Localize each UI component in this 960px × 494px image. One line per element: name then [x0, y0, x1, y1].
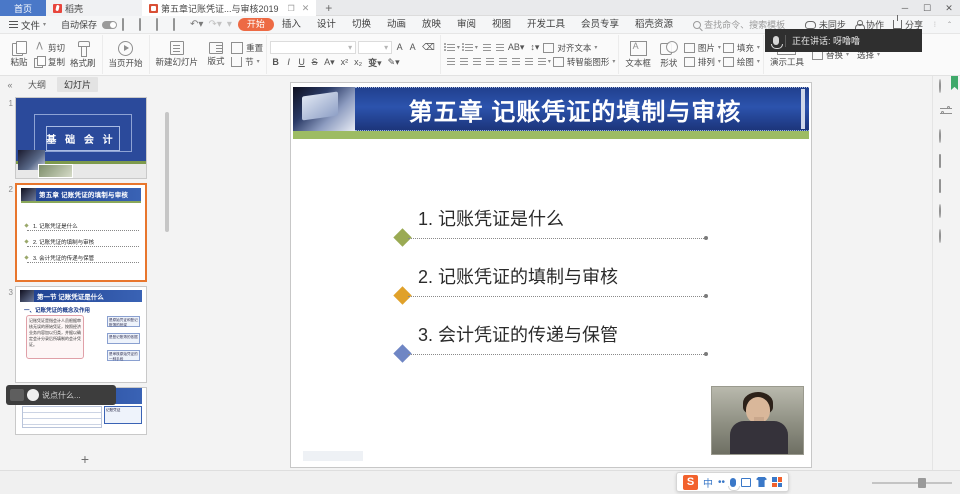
- chevron-down-icon: ▾: [718, 58, 721, 65]
- title-decor-image: [293, 87, 355, 131]
- reset-label: 重置: [246, 42, 263, 54]
- comment-bubble[interactable]: 说点什么...: [6, 385, 116, 405]
- layout-icon: [209, 42, 223, 54]
- decrease-indent-icon[interactable]: [480, 43, 491, 53]
- window-controls: ─ ☐ ✕: [894, 0, 960, 15]
- minimize-button[interactable]: ─: [894, 0, 916, 16]
- align-text-button[interactable]: 对齐文本 ▾: [543, 42, 597, 54]
- end-dot-icon: [704, 294, 708, 298]
- thumb2-bullet-1: 1. 记账凭证是什么: [33, 222, 133, 230]
- fill-label: 填充: [737, 42, 754, 54]
- divider: [785, 35, 786, 47]
- reset-button[interactable]: 重置: [231, 42, 263, 54]
- thumb4-note: 记账凭证: [104, 406, 142, 424]
- slide-number: 3: [2, 286, 13, 297]
- slide-canvas[interactable]: 第五章 记账凭证的填制与审核 1. 记账凭证是什么: [170, 76, 932, 470]
- share-icon: [893, 20, 902, 29]
- target-icon[interactable]: [939, 205, 954, 220]
- thumb3-header-image: [20, 290, 34, 302]
- copy-label: 复制: [48, 56, 65, 68]
- format-painter-button[interactable]: 格式刷: [67, 35, 99, 74]
- title-decor-tick: [801, 89, 805, 129]
- shape-button[interactable]: 形状: [656, 35, 682, 74]
- thumb3-subtitle: 一、记账凭证的概念及作用: [24, 306, 90, 314]
- dotted-rule: [408, 238, 704, 239]
- bullet-row[interactable]: 2. 记账凭证的填制与审核: [396, 261, 706, 319]
- new-tab-button[interactable]: +: [316, 0, 341, 15]
- help-icon[interactable]: [939, 230, 954, 245]
- paste-label: 粘贴: [10, 56, 27, 68]
- align-text-icon: [543, 43, 554, 53]
- slide-thumbnail-3[interactable]: 第一节 记账凭证是什么 一、记账凭证的概念及作用 记账凭证是指会计人员根据审核无…: [15, 286, 147, 383]
- more-options-icon[interactable]: ⋮: [932, 21, 938, 28]
- tab-daoke-resource[interactable]: 稻壳资源: [627, 16, 681, 34]
- paste-icon: [12, 41, 26, 55]
- tab-slides[interactable]: 幻灯片: [57, 77, 98, 92]
- autosave-toggle[interactable]: [102, 21, 117, 29]
- clear-format-button[interactable]: ⌫: [420, 42, 437, 53]
- shape-icon: [660, 41, 677, 56]
- slide-footer-placeholder: [303, 451, 363, 461]
- ime-mode-chinese[interactable]: 中: [703, 475, 713, 490]
- thumb3-box-1: 是原始凭证和登记账簿的桥梁: [107, 316, 140, 327]
- chevron-down-icon: ▾: [457, 44, 460, 51]
- presenter-body: [730, 421, 788, 455]
- cloud-sync-icon: [805, 21, 816, 29]
- tab-restore-icon[interactable]: ❐: [288, 4, 295, 13]
- slide-thumbnail-2[interactable]: 第五章 记账凭证的填制与审核 1. 记账凭证是什么 2. 记账凭证的填制与审核 …: [15, 183, 147, 282]
- panel-scrollbar[interactable]: [165, 112, 169, 232]
- cut-button[interactable]: 剪切: [34, 42, 65, 54]
- thumb4-table: [22, 406, 102, 428]
- sogou-logo-icon[interactable]: S: [683, 475, 698, 490]
- picture-button[interactable]: 图片 ▾: [684, 42, 721, 54]
- smartart-icon: [553, 57, 564, 67]
- print-preview-icon[interactable]: [173, 19, 185, 31]
- convert-to-smartart-button[interactable]: 转智能图形 ▾: [553, 56, 616, 68]
- chevron-down-icon: ▾: [718, 44, 721, 51]
- thumb2-bullet-2: 2. 记账凭证的填制与审核: [33, 238, 133, 246]
- slide-green-divider: [293, 131, 809, 139]
- zoom-slider[interactable]: [872, 482, 952, 484]
- cut-label: 剪切: [48, 42, 65, 54]
- underline-button[interactable]: U: [296, 57, 307, 67]
- ribbon-tabs: 开始 插入 设计 切换 动画 放映 审阅 视图 开发工具 会员专享 稻壳资源: [238, 16, 681, 34]
- customize-qat-icon[interactable]: ▾: [227, 19, 232, 30]
- ribbon-group-slides: 新建幻灯片 版式 重置 节 ▾: [150, 35, 268, 74]
- collapse-ribbon-icon[interactable]: ⌃: [947, 21, 952, 28]
- print-icon[interactable]: [156, 19, 168, 31]
- tab-outline[interactable]: 大纲: [21, 77, 53, 92]
- draw-icon: [723, 57, 734, 67]
- tab-transition[interactable]: 切换: [344, 16, 379, 34]
- draw-label: 绘图: [737, 56, 754, 68]
- chevron-down-icon: ▾: [877, 51, 880, 58]
- convert-to-smartart-label: 转智能图形: [567, 56, 610, 68]
- subscript-button[interactable]: x₂: [352, 57, 364, 67]
- chevron-down-icon: ▾: [612, 58, 615, 65]
- align-right-icon[interactable]: [470, 57, 481, 67]
- slide-number: 1: [2, 97, 13, 108]
- add-slide-button[interactable]: +: [0, 448, 170, 470]
- new-slide-icon: [170, 41, 184, 55]
- paste-button[interactable]: 粘贴: [6, 35, 32, 74]
- thumb2-bullet-3: 3. 会计凭证的传递与保管: [33, 254, 133, 262]
- play-from-here-button[interactable]: 当页开始: [106, 35, 146, 74]
- bullet-label: 3. 会计凭证的传递与保管: [418, 321, 618, 347]
- text-direction-icon[interactable]: AB▾: [506, 42, 527, 53]
- superscript-button[interactable]: x²: [339, 57, 351, 67]
- tab-animation[interactable]: 动画: [379, 16, 414, 34]
- undo-icon[interactable]: ↶▾: [190, 19, 203, 30]
- list-item[interactable]: 4 记账凭证 说点什么...: [0, 385, 170, 437]
- brush-style-icon[interactable]: [939, 80, 954, 95]
- tab-start[interactable]: 开始: [238, 18, 274, 31]
- work-area: « 大纲 幻灯片 1 基 础 会 计: [0, 76, 960, 470]
- speaking-toast: 正在讲话: 呀噜噜: [765, 29, 922, 52]
- play-from-here-icon: [118, 41, 133, 56]
- avatar: [10, 389, 24, 401]
- tab-daoke[interactable]: 稻壳: [46, 0, 142, 16]
- ime-keyboard-icon[interactable]: [741, 478, 751, 487]
- layout-label: 版式: [208, 55, 225, 67]
- ribbon-group-presentation: 当页开始: [103, 35, 150, 74]
- new-slide-button[interactable]: 新建幻灯片: [153, 35, 202, 74]
- hamburger-icon: [9, 21, 18, 28]
- thumb1-title: 基 础 会 计: [16, 131, 146, 146]
- tab-home-label: 首页: [14, 2, 32, 15]
- microphone-icon: [773, 36, 779, 45]
- sogou-ime-bar[interactable]: S 中 ••: [676, 472, 789, 492]
- strikethrough-button[interactable]: S: [309, 57, 320, 67]
- bullet-label: 1. 记账凭证是什么: [418, 205, 564, 231]
- paragraph-settings-icon[interactable]: [535, 57, 546, 67]
- panel-tabs: « 大纲 幻灯片: [0, 76, 170, 93]
- daoke-icon: [53, 4, 62, 13]
- presenter-video-tile[interactable]: [711, 386, 804, 455]
- redo-icon[interactable]: ↷▾: [208, 19, 221, 30]
- reset-icon: [231, 42, 243, 54]
- tab-design[interactable]: 设计: [309, 16, 344, 34]
- justify-icon[interactable]: [483, 57, 494, 67]
- bold-button[interactable]: B: [270, 57, 281, 67]
- list-item[interactable]: 2 第五章 记账凭证的填制与审核 1. 记账凭证是什么 2. 记账凭证的填制与审…: [0, 181, 170, 284]
- file-menu-label: 文件: [21, 18, 40, 32]
- thumb2-green-bar: [21, 201, 141, 203]
- image-tool-icon[interactable]: [939, 180, 954, 195]
- line-spacing-icon[interactable]: ↕▾: [528, 42, 541, 53]
- save-as-icon[interactable]: [139, 19, 151, 31]
- arrange-icon: [684, 57, 695, 67]
- phonetic-guide-button[interactable]: 变▾: [366, 56, 384, 69]
- comment-placeholder: 说点什么...: [42, 390, 81, 401]
- chevron-down-icon: ▾: [43, 21, 46, 28]
- chevron-down-icon: ▾: [846, 51, 849, 58]
- tab-view[interactable]: 视图: [484, 16, 519, 34]
- font-size-select[interactable]: ▾: [358, 41, 392, 54]
- text-highlight-button[interactable]: ✎▾: [386, 57, 402, 68]
- save-icon[interactable]: [122, 19, 134, 31]
- current-slide[interactable]: 第五章 记账凭证的填制与审核 1. 记账凭证是什么: [290, 82, 812, 468]
- right-tool-rail: [932, 76, 960, 470]
- italic-button[interactable]: I: [283, 57, 294, 67]
- copy-icon: [34, 56, 45, 67]
- chevron-down-icon: ▾: [475, 44, 478, 51]
- thumb3-title: 第一节 记账凭证是什么: [37, 291, 104, 301]
- thumb3-box-2: 是登记账簿的依据: [107, 333, 140, 344]
- ppt-file-icon: [149, 4, 158, 13]
- slide-thumbnail-1[interactable]: 基 础 会 计: [15, 97, 147, 179]
- tab-member[interactable]: 会员专享: [573, 16, 627, 34]
- ime-voice-icon[interactable]: [730, 478, 736, 487]
- slide-thumbnail-panel: « 大纲 幻灯片 1 基 础 会 计: [0, 76, 170, 470]
- slide-title-block[interactable]: 第五章 记账凭证的填制与审核: [293, 87, 809, 131]
- section-label: 节: [245, 56, 254, 68]
- tab-insert[interactable]: 插入: [274, 16, 309, 34]
- shape-label: 形状: [660, 57, 677, 69]
- decrease-font-size-button[interactable]: A: [407, 42, 418, 52]
- ribbon-group-font: ▾ ▾ A A ⌫ B I U S A▾ x² x₂ 变▾ ✎▾: [267, 35, 441, 74]
- status-bar: [0, 470, 960, 494]
- fill-button[interactable]: 填充 ▾: [723, 42, 760, 54]
- file-menu-button[interactable]: 文件 ▾: [4, 18, 51, 32]
- bullet-row[interactable]: 1. 记账凭证是什么: [396, 203, 706, 261]
- ime-skin-icon[interactable]: [756, 477, 767, 487]
- section-icon: [231, 57, 242, 67]
- layout-button[interactable]: 版式: [203, 35, 229, 74]
- wps-presentation-window: 首页 稻壳 第五章记账凭证...与审核2019 ❐ ✕ + ─ ☐ ✕ 文件 ▾…: [0, 0, 960, 494]
- ime-punctuation-icon[interactable]: ••: [718, 477, 725, 488]
- columns-icon[interactable]: [509, 57, 520, 67]
- copy-button[interactable]: 复制: [34, 56, 65, 68]
- window-tab-strip: 首页 稻壳 第五章记账凭证...与审核2019 ❐ ✕ + ─ ☐ ✕: [0, 0, 960, 16]
- dotted-rule: [408, 354, 704, 355]
- tab-close-icon[interactable]: ✕: [302, 3, 310, 14]
- thumb3-body: 记账凭证是指会计人员根据审核无误的原始凭证，按照经济业务内容加以归类，并据以确定…: [26, 315, 84, 359]
- thumb3-box-3: 是审核原始凭证的一种手段: [107, 350, 140, 361]
- increase-indent-icon[interactable]: [493, 43, 504, 53]
- tab-developer[interactable]: 开发工具: [519, 16, 573, 34]
- section-button[interactable]: 节 ▾: [231, 56, 263, 68]
- tab-document[interactable]: 第五章记账凭证...与审核2019 ❐ ✕: [142, 0, 316, 16]
- picture-icon: [684, 43, 695, 53]
- maximize-button[interactable]: ☐: [916, 0, 938, 16]
- format-painter-icon: [76, 41, 90, 56]
- slide-body[interactable]: 1. 记账凭证是什么 2. 记账凭证的填制与审核 3. 会计凭证的传递与保管: [291, 203, 811, 377]
- ribbon-group-clipboard: 粘贴 剪切 复制 格式刷: [3, 35, 103, 74]
- chevron-down-icon: ▾: [594, 44, 597, 51]
- thumb2-header-image: [21, 188, 36, 201]
- decor-image-2: [38, 164, 73, 178]
- present-tools-label: 演示工具: [770, 56, 804, 68]
- paragraph-spacing-icon[interactable]: [522, 57, 533, 67]
- emoji-icon[interactable]: [27, 389, 39, 401]
- bullet-row[interactable]: 3. 会计凭证的传递与保管: [396, 319, 706, 377]
- frame-icon[interactable]: [939, 155, 954, 170]
- format-painter-label: 格式刷: [70, 57, 96, 69]
- tab-document-label: 第五章记账凭证...与审核2019: [161, 2, 279, 15]
- new-slide-label: 新建幻灯片: [156, 56, 199, 68]
- align-text-label: 对齐文本: [557, 42, 591, 54]
- increase-font-size-button[interactable]: A: [394, 42, 405, 52]
- numbering-icon[interactable]: [462, 43, 473, 53]
- arrange-label: 排列: [698, 56, 715, 68]
- effects-icon[interactable]: [939, 130, 954, 145]
- font-family-select[interactable]: ▾: [270, 41, 356, 54]
- close-button[interactable]: ✕: [938, 0, 960, 16]
- speaking-toast-text: 正在讲话: 呀噜噜: [792, 34, 860, 47]
- picture-label: 图片: [698, 42, 715, 54]
- draw-button[interactable]: 绘图 ▾: [723, 56, 760, 68]
- slide-title-text: 第五章 记账凭证的填制与审核: [355, 87, 795, 131]
- search-icon: [693, 21, 701, 29]
- thumb2-title: 第五章 记账凭证的填制与审核: [39, 189, 128, 199]
- dotted-rule: [408, 296, 704, 297]
- end-dot-icon: [704, 236, 708, 240]
- quick-access-toolbar: 自动保存 ↶▾ ↷▾ ▾: [61, 18, 232, 31]
- tab-daoke-label: 稻壳: [65, 2, 83, 15]
- cut-icon: [34, 42, 45, 53]
- arrange-button[interactable]: 排列 ▾: [684, 56, 721, 68]
- autosave-label: 自动保存: [61, 18, 97, 31]
- distribute-icon[interactable]: [496, 57, 507, 67]
- fill-icon: [723, 43, 734, 53]
- tab-review[interactable]: 审阅: [449, 16, 484, 34]
- text-box-label: 文本框: [625, 57, 651, 69]
- text-box-button[interactable]: 文本框: [622, 35, 654, 74]
- slide-number: 2: [2, 183, 13, 194]
- list-item[interactable]: 1 基 础 会 计: [0, 95, 170, 181]
- chevron-down-icon: ▾: [257, 58, 260, 65]
- end-dot-icon: [704, 352, 708, 356]
- bullet-label: 2. 记账凭证的填制与审核: [418, 263, 618, 289]
- text-box-icon: [630, 41, 647, 56]
- sliders-icon[interactable]: [939, 105, 954, 120]
- chevron-down-icon: ▾: [757, 44, 760, 51]
- tab-home[interactable]: 首页: [0, 0, 46, 16]
- align-left-icon[interactable]: [444, 57, 455, 67]
- ribbon-group-paragraph: ▾ ▾ AB▾ ↕▾ 对齐文本 ▾: [441, 35, 620, 74]
- tab-slideshow[interactable]: 放映: [414, 16, 449, 34]
- chevron-down-icon: ▾: [548, 58, 551, 65]
- thumbnail-list[interactable]: 1 基 础 会 计: [0, 93, 170, 448]
- collaborate-icon: [855, 20, 863, 29]
- text-effects-button[interactable]: A▾: [322, 57, 337, 68]
- chevron-down-icon: ▾: [757, 58, 760, 65]
- list-item[interactable]: 3 第一节 记账凭证是什么 一、记账凭证的概念及作用 记账凭证是指会计人员根据审…: [0, 284, 170, 385]
- bullets-icon[interactable]: [444, 43, 455, 53]
- status-right: [872, 482, 952, 484]
- collapse-panel-icon[interactable]: «: [3, 80, 17, 90]
- align-center-icon[interactable]: [457, 57, 468, 67]
- ime-toolbox-icon[interactable]: [772, 477, 782, 487]
- play-from-here-label: 当页开始: [109, 57, 143, 69]
- ribbon-group-insert: 文本框 形状 图片 ▾ 排列 ▾: [619, 35, 764, 74]
